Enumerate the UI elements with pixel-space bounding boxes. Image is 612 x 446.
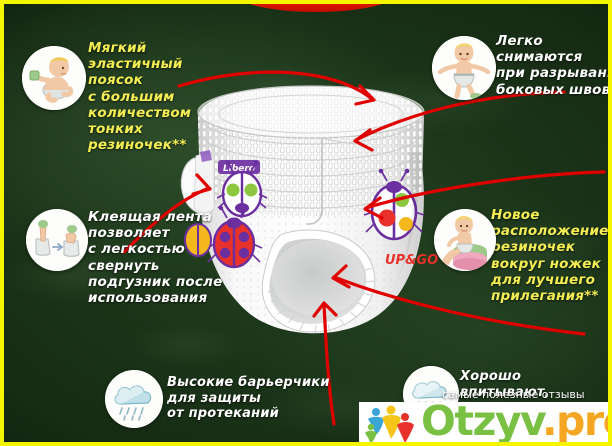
baby-on-potty-icon — [434, 209, 496, 271]
watermark-tagline: самые полезные отзывы — [442, 388, 602, 401]
callout-text-adhesive-tape: Клеящая лента позволяет с легкостью свер… — [88, 209, 223, 306]
infographic-canvas: Libero — [0, 0, 612, 446]
callout-text-side-seams: Легко снимаются при разрывании боковых ш… — [496, 33, 612, 98]
baby-sitting-icon — [22, 46, 86, 110]
top-red-accent — [236, 0, 396, 12]
rain-cloud-icon — [105, 370, 163, 428]
otzyv-people-logo — [363, 405, 419, 445]
otzyv-pro-watermark[interactable]: Otzyv.pro — [359, 402, 612, 446]
watermark-name-secondary: .pro — [542, 402, 612, 445]
watermark-wordmark: Otzyv.pro — [421, 402, 612, 445]
callout-text-waistband: Мягкий эластичный поясок с большим колич… — [88, 40, 191, 153]
baby-tearing-seams-icon — [432, 36, 496, 100]
svg-text:UP&GO: UP&GO — [385, 253, 438, 268]
callout-text-barriers: Высокие барьерчики для защиты от протека… — [167, 375, 330, 422]
callout-text-leg-elastics: Новое расположение резиночек вокруг ноже… — [491, 207, 608, 304]
watermark-name-primary: Otzyv — [421, 402, 542, 445]
rolling-diaper-icon — [26, 209, 88, 271]
